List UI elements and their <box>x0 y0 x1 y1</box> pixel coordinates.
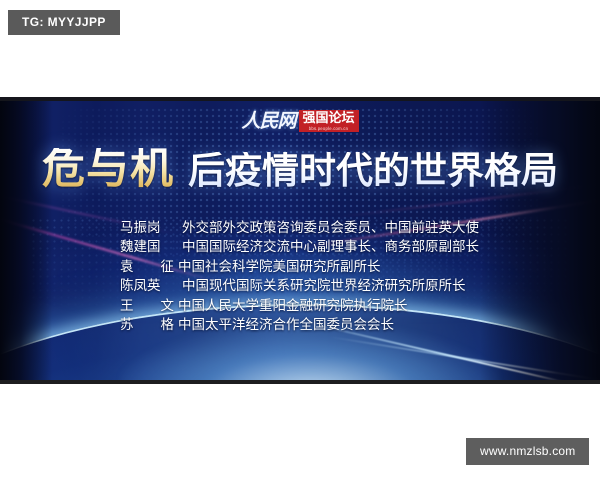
speaker-title: 中国国际经济交流中心副理事长、商务部原副部长 <box>182 238 479 257</box>
speaker-title: 中国人民大学重阳金融研究院执行院长 <box>178 297 408 316</box>
qiangguo-forum-url: bbs.people.com.cn <box>309 127 348 131</box>
headline-accent: 危与机 <box>42 148 174 191</box>
speaker-row: 王文中国人民大学重阳金融研究院执行院长 <box>120 297 480 316</box>
speaker-name: 王文 <box>120 297 178 316</box>
banner-bottom-border <box>0 380 600 384</box>
watermark-top-left: TG: MYYJJPP <box>8 10 120 35</box>
qiangguo-forum-label: 强国论坛 <box>303 112 355 126</box>
screenshot-root: TG: MYYJJPP 人民网 强国论坛 bbs.people.com.cn 危… <box>0 0 600 480</box>
speaker-row: 苏格中国太平洋经济合作全国委员会会长 <box>120 316 480 335</box>
watermark-bottom-right: www.nmzlsb.com <box>466 438 589 465</box>
speaker-title: 中国现代国际关系研究院世界经济研究所原所长 <box>182 277 466 296</box>
speaker-name: 陈凤英 <box>120 277 182 296</box>
qiangguo-forum-badge: 强国论坛 bbs.people.com.cn <box>299 110 359 132</box>
headline-main: 后疫情时代的世界格局 <box>188 152 558 189</box>
page-title: 危与机 后疫情时代的世界格局 <box>0 148 600 191</box>
people-cn-brand-text: 人民网 <box>241 112 295 132</box>
speaker-title: 中国社会科学院美国研究所副所长 <box>178 258 381 277</box>
speaker-row: 陈凤英中国现代国际关系研究院世界经济研究所原所长 <box>120 277 480 296</box>
speaker-list: 马振岗外交部外交政策咨询委员会委员、中国前驻英大使魏建国中国国际经济交流中心副理… <box>0 219 600 335</box>
banner-top-border <box>0 97 600 101</box>
speaker-title: 外交部外交政策咨询委员会委员、中国前驻英大使 <box>182 219 479 238</box>
speaker-name: 魏建国 <box>120 238 182 257</box>
people-cn-logo: 人民网 强国论坛 bbs.people.com.cn <box>0 110 600 132</box>
speaker-row: 袁征中国社会科学院美国研究所副所长 <box>120 258 480 277</box>
speaker-name: 苏格 <box>120 316 178 335</box>
speaker-name: 马振岗 <box>120 219 182 238</box>
speaker-title: 中国太平洋经济合作全国委员会会长 <box>178 316 394 335</box>
speaker-row: 马振岗外交部外交政策咨询委员会委员、中国前驻英大使 <box>120 219 480 238</box>
speaker-name: 袁征 <box>120 258 178 277</box>
speaker-row: 魏建国中国国际经济交流中心副理事长、商务部原副部长 <box>120 238 480 257</box>
